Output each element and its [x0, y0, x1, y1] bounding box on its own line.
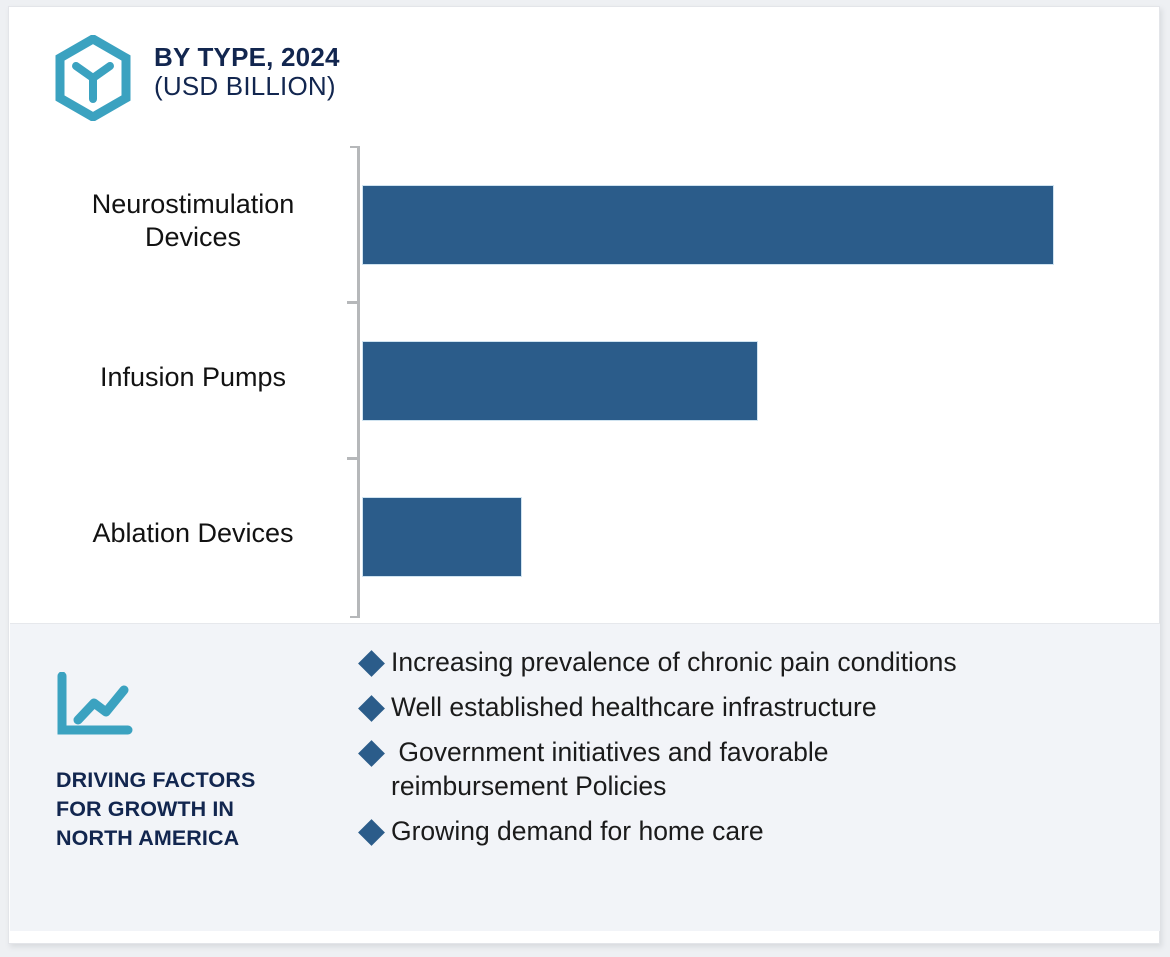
list-item: Government initiatives and favorable rei…	[362, 736, 1152, 804]
driver-text: Increasing prevalence of chronic pain co…	[391, 646, 957, 680]
diamond-bullet-icon	[358, 819, 385, 846]
driver-text: Government initiatives and favorable rei…	[391, 736, 1011, 804]
page-title: BY TYPE, 2024	[154, 43, 340, 72]
bar-category-label: Neurostimulation Devices	[43, 143, 343, 299]
bar-category-label: Ablation Devices	[43, 455, 343, 611]
bar-row: Infusion Pumps	[9, 299, 1161, 455]
diamond-bullet-icon	[358, 650, 385, 677]
driver-text: Well established healthcare infrastructu…	[391, 691, 877, 725]
driver-text: Growing demand for home care	[391, 815, 764, 849]
screenshot-root: BY TYPE, 2024 (USD BILLION) Neurostimula…	[0, 0, 1170, 957]
axis-cap-bottom	[350, 616, 360, 618]
panel-title-line-2: FOR GROWTH IN	[56, 795, 324, 824]
panel-title: DRIVING FACTORS FOR GROWTH IN NORTH AMER…	[56, 766, 324, 852]
driving-factors-panel: DRIVING FACTORS FOR GROWTH IN NORTH AMER…	[10, 623, 1160, 931]
panel-title-line-3: NORTH AMERICA	[56, 824, 324, 853]
page-subtitle: (USD BILLION)	[154, 72, 340, 101]
hexagon-y-icon	[53, 35, 133, 121]
line-chart-icon	[56, 672, 134, 738]
bar-neurostimulation-devices[interactable]	[362, 185, 1054, 265]
header-text-block: BY TYPE, 2024 (USD BILLION)	[154, 31, 340, 101]
bar-row: Neurostimulation Devices	[9, 143, 1161, 299]
bar-infusion-pumps[interactable]	[362, 341, 758, 421]
panel-title-line-1: DRIVING FACTORS	[56, 766, 324, 795]
list-item: Well established healthcare infrastructu…	[362, 691, 1152, 725]
bar-category-label: Infusion Pumps	[43, 299, 343, 455]
chart-header: BY TYPE, 2024 (USD BILLION)	[53, 31, 340, 127]
list-item: Increasing prevalence of chronic pain co…	[362, 646, 1152, 680]
panel-heading-block: DRIVING FACTORS FOR GROWTH IN NORTH AMER…	[56, 672, 324, 852]
diamond-bullet-icon	[358, 695, 385, 722]
diamond-bullet-icon	[358, 740, 385, 767]
driving-factors-list: Increasing prevalence of chronic pain co…	[362, 646, 1152, 860]
bar-row: Ablation Devices	[9, 455, 1161, 611]
chart-card: BY TYPE, 2024 (USD BILLION) Neurostimula…	[8, 6, 1160, 944]
list-item: Growing demand for home care	[362, 815, 1152, 849]
bar-ablation-devices[interactable]	[362, 497, 522, 577]
bar-chart: Neurostimulation Devices Infusion Pumps …	[9, 137, 1161, 629]
